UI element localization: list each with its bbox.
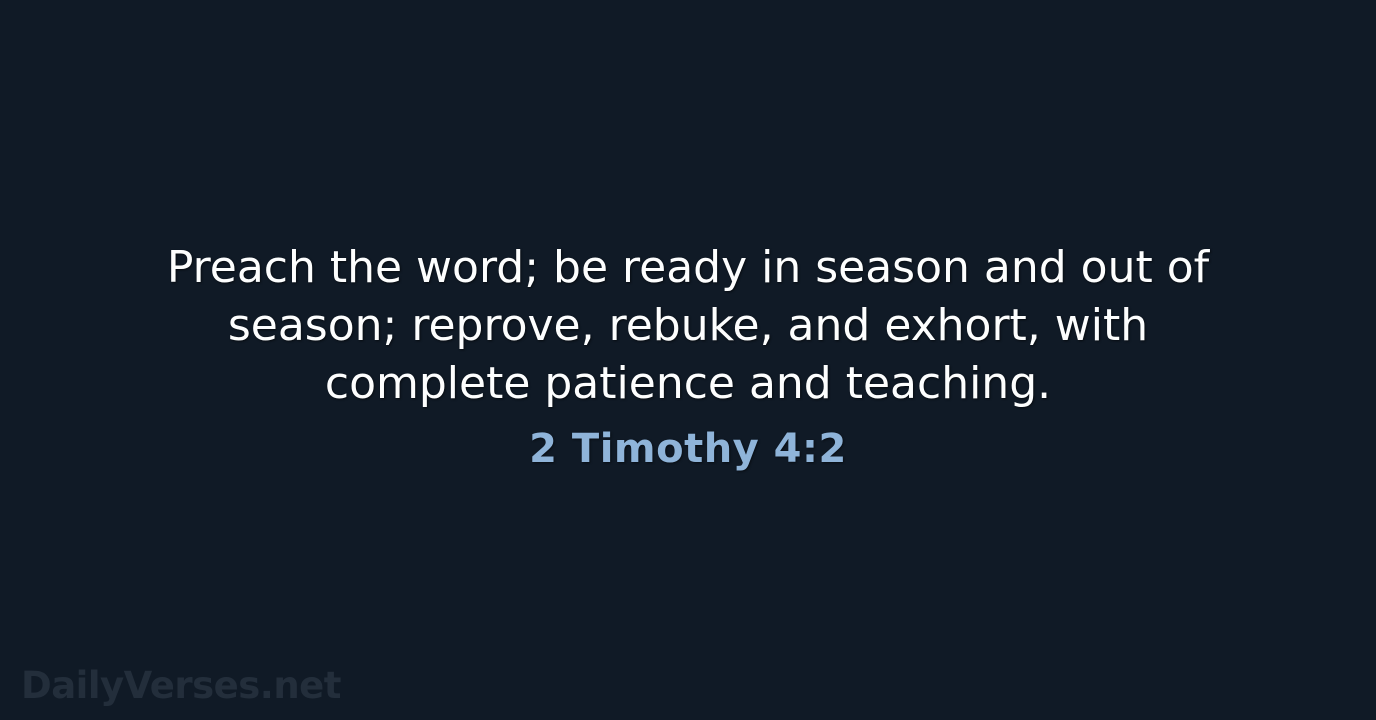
dailyverses-watermark: DailyVerses.net	[21, 665, 341, 707]
verse-text: Preach the word; be ready in season and …	[143, 239, 1233, 413]
verse-content-block: Preach the word; be ready in season and …	[0, 0, 1376, 720]
verse-reference: 2 Timothy 4:2	[143, 424, 1233, 474]
verse-image-canvas: Preach the word; be ready in season and …	[0, 0, 1376, 720]
